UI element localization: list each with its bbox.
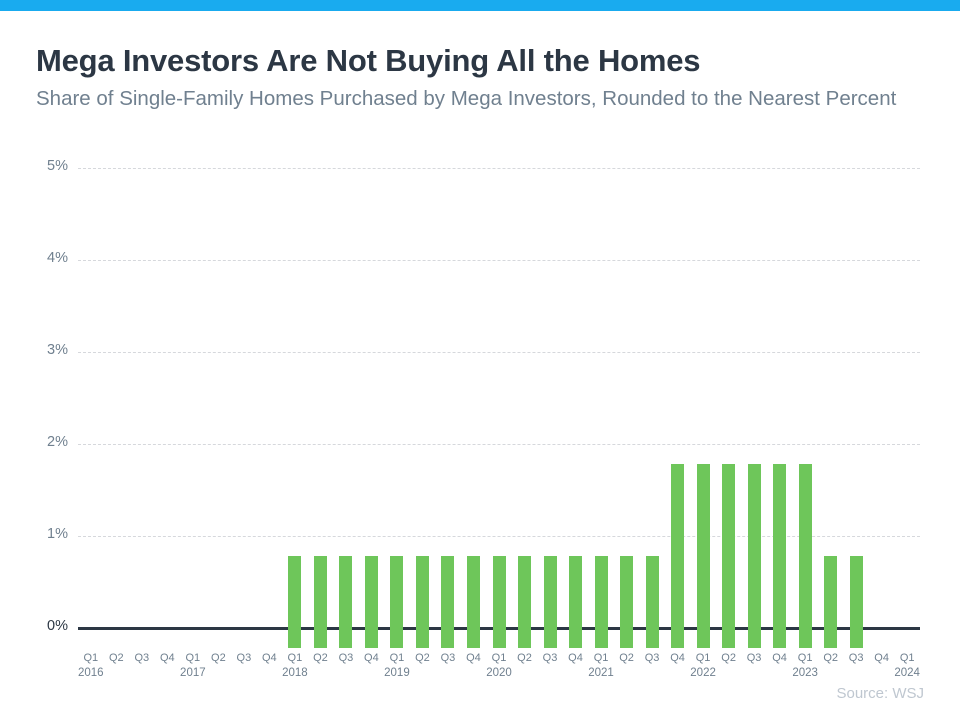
x-axis-tick-quarter: Q4 bbox=[665, 652, 690, 666]
x-axis-tick-quarter: Q1 bbox=[384, 652, 410, 666]
x-axis-tick: Q2 bbox=[818, 652, 843, 680]
x-axis-tick-quarter: Q4 bbox=[359, 652, 384, 666]
bar[interactable] bbox=[569, 556, 582, 648]
x-axis-tick: Q4 bbox=[665, 652, 690, 680]
x-axis-tick-quarter: Q1 bbox=[792, 652, 818, 666]
bar-slot bbox=[410, 188, 436, 648]
bar[interactable] bbox=[620, 556, 633, 648]
bar-slot bbox=[78, 188, 104, 648]
x-axis-tick: Q2 bbox=[512, 652, 537, 680]
x-axis-tick-quarter: Q4 bbox=[155, 652, 180, 666]
x-axis-tick-quarter: Q2 bbox=[104, 652, 129, 666]
x-axis-tick-quarter: Q1 bbox=[78, 652, 104, 666]
x-axis-tick-quarter: Q3 bbox=[231, 652, 256, 666]
bar[interactable] bbox=[748, 464, 761, 648]
x-axis-tick: Q12020 bbox=[486, 652, 512, 680]
x-axis-tick-quarter: Q1 bbox=[894, 652, 920, 666]
x-axis-tick-quarter: Q2 bbox=[614, 652, 639, 666]
bar-slot bbox=[895, 188, 921, 648]
x-axis-tick: Q3 bbox=[537, 652, 562, 680]
x-axis-tick: Q4 bbox=[563, 652, 588, 680]
bar[interactable] bbox=[697, 464, 710, 648]
x-axis-tick-quarter: Q4 bbox=[461, 652, 486, 666]
x-axis-tick-quarter: Q2 bbox=[206, 652, 231, 666]
bar[interactable] bbox=[722, 464, 735, 648]
x-axis-tick-quarter: Q4 bbox=[869, 652, 894, 666]
x-axis-tick-year: 2024 bbox=[894, 666, 920, 680]
bar-slot bbox=[563, 188, 589, 648]
chart-header: Mega Investors Are Not Buying All the Ho… bbox=[0, 11, 960, 113]
x-axis-tick: Q3 bbox=[231, 652, 256, 680]
x-axis-labels: Q12016Q2Q3Q4Q12017Q2Q3Q4Q12018Q2Q3Q4Q120… bbox=[78, 652, 920, 680]
x-axis-tick: Q12016 bbox=[78, 652, 104, 680]
x-axis-tick-year: 2016 bbox=[78, 666, 104, 680]
bar-slot bbox=[129, 188, 155, 648]
bar[interactable] bbox=[850, 556, 863, 648]
x-axis-tick-quarter: Q1 bbox=[588, 652, 614, 666]
bar-slot bbox=[716, 188, 742, 648]
bar[interactable] bbox=[493, 556, 506, 648]
bar[interactable] bbox=[365, 556, 378, 648]
bar-slot bbox=[869, 188, 895, 648]
x-axis-tick-quarter: Q2 bbox=[410, 652, 435, 666]
bar-slot bbox=[231, 188, 257, 648]
bar-slot bbox=[206, 188, 232, 648]
x-axis-tick-quarter: Q3 bbox=[435, 652, 460, 666]
bar-slot bbox=[818, 188, 844, 648]
x-axis-tick: Q4 bbox=[359, 652, 384, 680]
x-axis-tick: Q12017 bbox=[180, 652, 206, 680]
bar-slot bbox=[843, 188, 869, 648]
x-axis-tick: Q12024 bbox=[894, 652, 920, 680]
bar[interactable] bbox=[544, 556, 557, 648]
bar-slot bbox=[282, 188, 308, 648]
x-axis-tick-quarter: Q4 bbox=[257, 652, 282, 666]
y-axis-tick-label: 5% bbox=[47, 158, 68, 174]
bar[interactable] bbox=[288, 556, 301, 648]
y-axis-tick-label: 2% bbox=[47, 434, 68, 450]
bar-slot bbox=[690, 188, 716, 648]
x-axis-tick: Q12018 bbox=[282, 652, 308, 680]
bar[interactable] bbox=[339, 556, 352, 648]
bar[interactable] bbox=[824, 556, 837, 648]
bar-slot bbox=[512, 188, 538, 648]
bar-slot bbox=[767, 188, 793, 648]
bar-slot bbox=[792, 188, 818, 648]
x-axis-tick-quarter: Q1 bbox=[282, 652, 308, 666]
x-axis-tick-quarter: Q3 bbox=[129, 652, 154, 666]
bar-slot bbox=[461, 188, 487, 648]
bar[interactable] bbox=[646, 556, 659, 648]
x-axis-tick: Q4 bbox=[155, 652, 180, 680]
bar-slot bbox=[435, 188, 461, 648]
x-axis-tick-quarter: Q3 bbox=[639, 652, 664, 666]
source-note: Source: WSJ bbox=[836, 685, 924, 702]
x-axis-tick-quarter: Q2 bbox=[308, 652, 333, 666]
x-axis-tick-quarter: Q2 bbox=[716, 652, 741, 666]
x-axis-tick-year: 2018 bbox=[282, 666, 308, 680]
x-axis-tick-year: 2022 bbox=[690, 666, 716, 680]
bar[interactable] bbox=[314, 556, 327, 648]
x-axis-tick: Q3 bbox=[639, 652, 664, 680]
y-axis-tick-label: 0% bbox=[47, 618, 68, 634]
bar-slot bbox=[359, 188, 385, 648]
bar-slot bbox=[180, 188, 206, 648]
x-axis-tick: Q3 bbox=[129, 652, 154, 680]
y-axis-tick-label: 3% bbox=[47, 342, 68, 358]
x-axis-tick-year: 2021 bbox=[588, 666, 614, 680]
bar-slot bbox=[665, 188, 691, 648]
x-axis-tick-year: 2023 bbox=[792, 666, 818, 680]
page-title: Mega Investors Are Not Buying All the Ho… bbox=[0, 11, 960, 77]
x-axis-tick: Q2 bbox=[716, 652, 741, 680]
x-axis-tick: Q2 bbox=[614, 652, 639, 680]
y-axis-tick-label: 4% bbox=[47, 250, 68, 266]
bar-slot bbox=[486, 188, 512, 648]
x-axis-tick-quarter: Q4 bbox=[563, 652, 588, 666]
x-axis-tick-quarter: Q4 bbox=[767, 652, 792, 666]
x-axis-tick: Q12021 bbox=[588, 652, 614, 680]
x-axis-tick: Q3 bbox=[333, 652, 358, 680]
x-axis-tick: Q3 bbox=[741, 652, 766, 680]
x-axis-tick: Q2 bbox=[410, 652, 435, 680]
chart-subtitle: Share of Single-Family Homes Purchased b… bbox=[0, 77, 952, 112]
bar[interactable] bbox=[799, 464, 812, 648]
bar-slot bbox=[104, 188, 130, 648]
x-axis-tick-quarter: Q3 bbox=[843, 652, 868, 666]
top-accent-bar bbox=[0, 0, 960, 11]
gridline-rule bbox=[78, 168, 920, 169]
x-axis-tick-quarter: Q1 bbox=[690, 652, 716, 666]
x-axis-tick: Q12022 bbox=[690, 652, 716, 680]
bar-slot bbox=[588, 188, 614, 648]
bar-slot bbox=[155, 188, 181, 648]
bar-slot bbox=[614, 188, 640, 648]
bar-series bbox=[78, 188, 920, 648]
chart-plot-area: 0%1%2%3%4%5% Q12016Q2Q3Q4Q12017Q2Q3Q4Q12… bbox=[0, 168, 960, 648]
x-axis-tick-quarter: Q2 bbox=[512, 652, 537, 666]
x-axis-tick-quarter: Q1 bbox=[180, 652, 206, 666]
bar[interactable] bbox=[595, 556, 608, 648]
bar-slot bbox=[741, 188, 767, 648]
x-axis-tick: Q4 bbox=[869, 652, 894, 680]
bar-slot bbox=[537, 188, 563, 648]
x-axis-tick-quarter: Q3 bbox=[333, 652, 358, 666]
x-axis-tick: Q2 bbox=[206, 652, 231, 680]
x-axis-tick: Q3 bbox=[435, 652, 460, 680]
bar[interactable] bbox=[467, 556, 480, 648]
bar[interactable] bbox=[773, 464, 786, 648]
x-axis-tick-quarter: Q3 bbox=[741, 652, 766, 666]
x-axis-tick: Q2 bbox=[104, 652, 129, 680]
bar[interactable] bbox=[390, 556, 403, 648]
x-axis-tick-year: 2020 bbox=[486, 666, 512, 680]
x-axis-tick: Q2 bbox=[308, 652, 333, 680]
x-axis-tick: Q12023 bbox=[792, 652, 818, 680]
bar[interactable] bbox=[441, 556, 454, 648]
x-axis-tick-year: 2017 bbox=[180, 666, 206, 680]
bar-slot bbox=[257, 188, 283, 648]
bar-slot bbox=[308, 188, 334, 648]
x-axis-tick: Q3 bbox=[843, 652, 868, 680]
x-axis-tick-quarter: Q1 bbox=[486, 652, 512, 666]
bar-slot bbox=[384, 188, 410, 648]
bar[interactable] bbox=[518, 556, 531, 648]
bar[interactable] bbox=[671, 464, 684, 648]
x-axis-tick: Q4 bbox=[257, 652, 282, 680]
bar-slot bbox=[639, 188, 665, 648]
x-axis-tick-quarter: Q2 bbox=[818, 652, 843, 666]
y-axis-tick-label: 1% bbox=[47, 526, 68, 542]
x-axis-tick-year: 2019 bbox=[384, 666, 410, 680]
bar[interactable] bbox=[416, 556, 429, 648]
x-axis-tick: Q12019 bbox=[384, 652, 410, 680]
x-axis-tick: Q4 bbox=[461, 652, 486, 680]
x-axis-tick: Q4 bbox=[767, 652, 792, 680]
x-axis-tick-quarter: Q3 bbox=[537, 652, 562, 666]
bar-slot bbox=[333, 188, 359, 648]
